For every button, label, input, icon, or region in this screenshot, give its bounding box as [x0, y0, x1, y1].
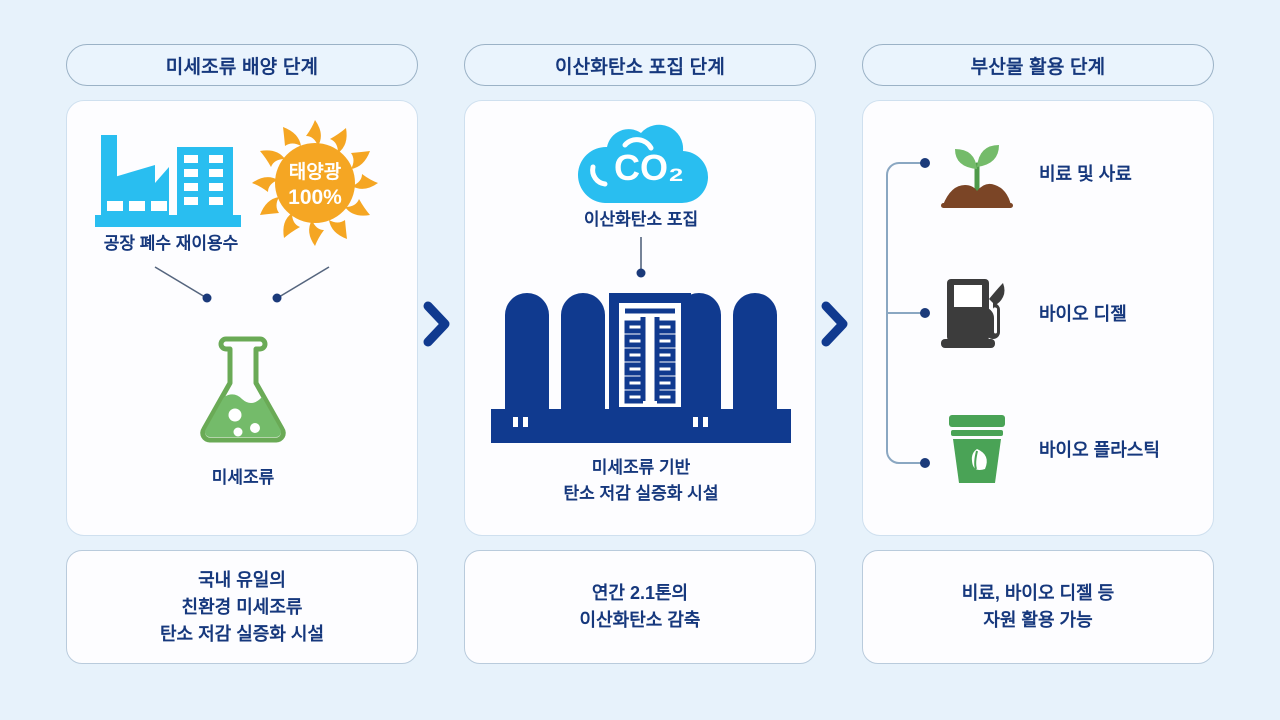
byproduct-label: 비료 및 사료	[1039, 160, 1132, 186]
sun-badge-line1: 태양광	[289, 161, 342, 183]
flow-arrow-icon	[818, 298, 852, 350]
fuel-pump-icon	[933, 273, 1021, 353]
stage-card-capture: CO₂ 이산화탄소 포집	[464, 100, 816, 536]
sprout-soil-icon	[933, 133, 1021, 213]
flask-icon	[193, 329, 293, 449]
summary-line: 자원 활용 가능	[983, 607, 1092, 634]
summary-card-capture: 연간 2.1톤의 이산화탄소 감축	[464, 550, 816, 664]
stage-pill-label: 부산물 활용 단계	[971, 52, 1106, 79]
byproduct-label: 바이오 디젤	[1039, 300, 1127, 326]
summary-line: 이산화탄소 감축	[580, 607, 701, 634]
stage-pill-label: 미세조류 배양 단계	[166, 52, 318, 79]
summary-line: 탄소 저감 실증화 시설	[160, 621, 324, 648]
factory-label: 공장 폐수 재이용수	[71, 229, 271, 254]
co2-text: CO₂	[614, 147, 684, 188]
stage-pill-cultivation: 미세조류 배양 단계	[66, 44, 418, 86]
facility-label-line2: 탄소 저감 실증화 시설	[465, 481, 816, 507]
summary-line: 연간 2.1톤의	[592, 580, 688, 607]
stage-column-byproduct: 부산물 활용 단계	[862, 44, 1214, 664]
co2-cloud-label: 이산화탄소 포집	[465, 205, 816, 230]
summary-line: 비료, 바이오 디젤 등	[962, 580, 1114, 607]
flow-arrow-icon	[420, 298, 454, 350]
byproduct-item-biodiesel: 바이오 디젤	[933, 269, 1213, 357]
summary-line: 친환경 미세조류	[182, 594, 303, 621]
summary-card-cultivation: 국내 유일의 친환경 미세조류 탄소 저감 실증화 시설	[66, 550, 418, 664]
stage-column-capture: 이산화탄소 포집 단계 CO₂ 이산화탄소 포집	[464, 44, 816, 664]
sun-badge-line2: 100%	[288, 186, 342, 209]
infographic-board: 미세조류 배양 단계	[0, 0, 1280, 720]
summary-line: 국내 유일의	[198, 567, 286, 594]
cultivation-connector-lines	[147, 261, 337, 321]
byproduct-label: 바이오 플라스틱	[1039, 436, 1160, 462]
stage-pill-byproduct: 부산물 활용 단계	[862, 44, 1214, 86]
sun-icon: 태양광 100%	[250, 118, 380, 248]
factory-icon	[95, 131, 241, 227]
byproduct-item-fertilizer: 비료 및 사료	[933, 129, 1213, 217]
summary-card-byproduct: 비료, 바이오 디젤 등 자원 활용 가능	[862, 550, 1214, 664]
bioreactor-facility-label: 미세조류 기반 탄소 저감 실증화 시설	[465, 455, 816, 508]
stage-card-byproduct: 비료 및 사료 바이오 디젤	[862, 100, 1214, 536]
flask-label: 미세조류	[67, 463, 418, 488]
stage-card-cultivation: 공장 폐수 재이용수	[66, 100, 418, 536]
byproduct-item-bioplastic: 바이오 플라스틱	[933, 405, 1213, 493]
stage-column-cultivation: 미세조류 배양 단계	[66, 44, 418, 664]
bio-cup-icon	[933, 409, 1021, 489]
stage-pill-label: 이산화탄소 포집 단계	[555, 52, 725, 79]
co2-cloud-icon: CO₂	[569, 115, 713, 207]
stage-pill-capture: 이산화탄소 포집 단계	[464, 44, 816, 86]
facility-label-line1: 미세조류 기반	[465, 455, 816, 481]
bioreactor-facility-icon	[491, 273, 791, 443]
